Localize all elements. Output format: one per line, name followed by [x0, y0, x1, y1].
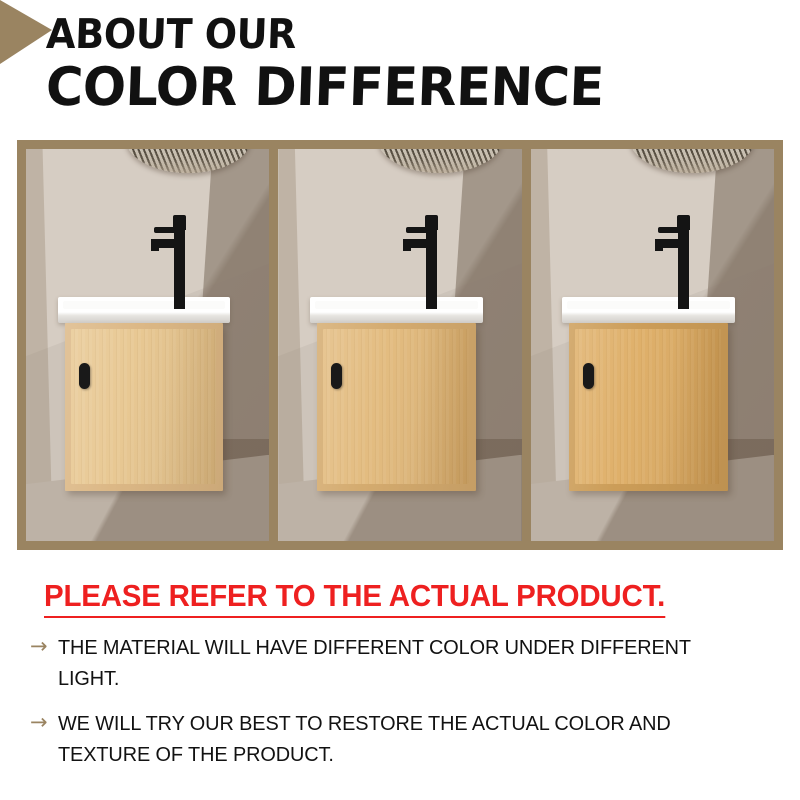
cabinet-shading: [317, 323, 476, 491]
white-sink-basin: [58, 297, 231, 323]
disclaimer-heading: PLEASE REFER TO THE ACTUAL PRODUCT.: [44, 578, 665, 618]
product-photo-panel-2: [278, 149, 521, 541]
mirror-shading: [125, 149, 251, 173]
disclaimer-bullet-list: → THE MATERIAL WILL HAVE DIFFERENT COLOR…: [30, 632, 770, 784]
faucet-spout-riser: [655, 239, 663, 251]
product-photo-panel-3: [531, 149, 774, 541]
white-sink-basin: [562, 297, 735, 323]
list-item: → THE MATERIAL WILL HAVE DIFFERENT COLOR…: [30, 632, 770, 694]
basin-rim: [63, 301, 225, 309]
fluted-round-mirror-icon: [125, 149, 251, 173]
arrow-right-icon: →: [30, 632, 58, 660]
mirror-shading: [630, 149, 756, 173]
cabinet-door-handle: [583, 363, 594, 389]
cabinet-shading: [65, 323, 224, 491]
black-faucet: [148, 215, 192, 315]
wood-cabinet-body: [569, 323, 728, 491]
fluted-round-mirror-icon: [630, 149, 756, 173]
arrow-right-icon: →: [30, 708, 58, 736]
wood-cabinet-body: [317, 323, 476, 491]
bullet-text: WE WILL TRY OUR BEST TO RESTORE THE ACTU…: [58, 708, 698, 770]
basin-rim: [567, 301, 729, 309]
fluted-round-mirror-icon: [377, 149, 503, 173]
vanity-unit-3: [562, 297, 735, 493]
vanity-unit-1: [58, 297, 231, 493]
cabinet-shading: [569, 323, 728, 491]
wood-cabinet-body: [65, 323, 224, 491]
product-photo-strip: [17, 140, 783, 550]
faucet-lever-handle: [154, 227, 176, 233]
page-title-line-2: COLOR DIFFERENCE: [45, 57, 605, 118]
faucet-lever-handle: [658, 227, 680, 233]
cabinet-door-handle: [79, 363, 90, 389]
faucet-column: [174, 225, 185, 309]
faucet-lever-handle: [406, 227, 428, 233]
vanity-unit-2: [310, 297, 483, 493]
page-header: ABOUT OUR COLOR DIFFERENCE: [0, 0, 800, 128]
faucet-column: [426, 225, 437, 309]
bullet-text: THE MATERIAL WILL HAVE DIFFERENT COLOR U…: [58, 632, 698, 694]
black-faucet: [652, 215, 696, 315]
list-item: → WE WILL TRY OUR BEST TO RESTORE THE AC…: [30, 708, 770, 770]
faucet-column: [678, 225, 689, 309]
basin-rim: [315, 301, 477, 309]
black-faucet: [400, 215, 444, 315]
cabinet-door-handle: [331, 363, 342, 389]
page-title-line-1: ABOUT OUR: [45, 10, 296, 58]
faucet-spout-riser: [151, 239, 159, 251]
product-photo-panel-1: [26, 149, 269, 541]
white-sink-basin: [310, 297, 483, 323]
mirror-shading: [377, 149, 503, 173]
faucet-spout-riser: [403, 239, 411, 251]
